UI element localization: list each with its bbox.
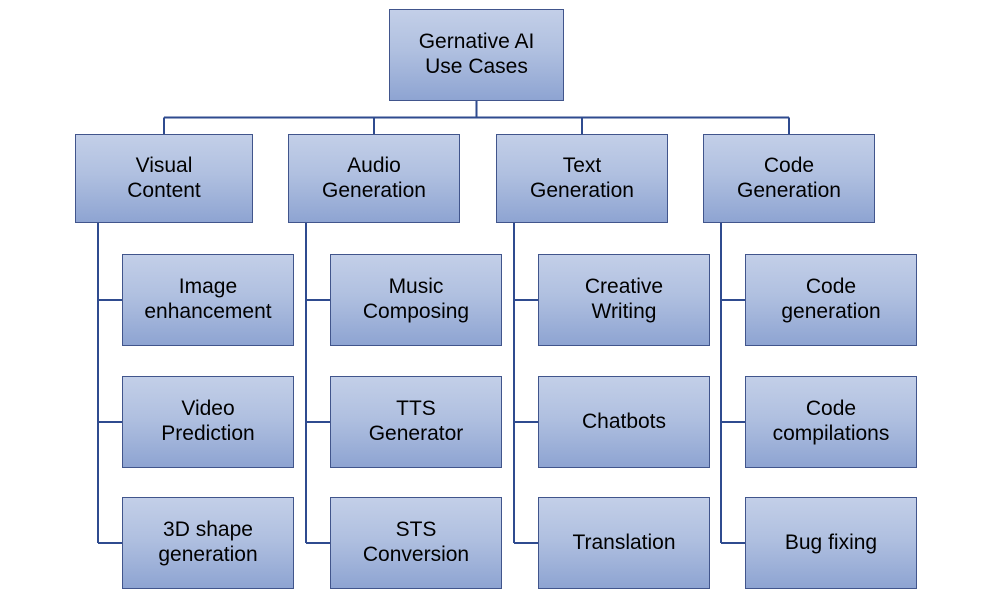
leaf-node-bug-fixing[interactable]: Bug fixing	[745, 497, 917, 589]
leaf-node-sts-conversion[interactable]: STS Conversion	[330, 497, 502, 589]
leaf-node-label: Code generation	[781, 275, 880, 325]
branch-node-audio-generation[interactable]: Audio Generation	[288, 134, 460, 223]
leaf-node-label: Image enhancement	[144, 275, 271, 325]
branch-node-label: Audio Generation	[322, 154, 426, 204]
branch-node-visual-content[interactable]: Visual Content	[75, 134, 253, 223]
leaf-node-chatbots[interactable]: Chatbots	[538, 376, 710, 468]
root-node[interactable]: Gernative AI Use Cases	[389, 9, 564, 101]
leaf-node-label: 3D shape generation	[158, 518, 257, 568]
branch-node-label: Code Generation	[737, 154, 841, 204]
leaf-node-label: Translation	[572, 531, 675, 556]
leaf-node-music-composing[interactable]: Music Composing	[330, 254, 502, 346]
org-chart-diagram: Gernative AI Use Cases Visual Content Im…	[0, 0, 996, 607]
branch-node-label: Text Generation	[530, 154, 634, 204]
leaf-node-label: Bug fixing	[785, 531, 877, 556]
leaf-node-code-generation[interactable]: Code generation	[745, 254, 917, 346]
leaf-node-label: TTS Generator	[369, 397, 464, 447]
leaf-node-label: Creative Writing	[585, 275, 663, 325]
leaf-node-creative-writing[interactable]: Creative Writing	[538, 254, 710, 346]
leaf-node-image-enhancement[interactable]: Image enhancement	[122, 254, 294, 346]
leaf-node-3d-shape-generation[interactable]: 3D shape generation	[122, 497, 294, 589]
leaf-node-translation[interactable]: Translation	[538, 497, 710, 589]
branch-node-code-generation[interactable]: Code Generation	[703, 134, 875, 223]
leaf-node-label: Chatbots	[582, 410, 666, 435]
leaf-node-label: Code compilations	[773, 397, 890, 447]
root-node-label: Gernative AI Use Cases	[419, 30, 535, 80]
leaf-node-tts-generator[interactable]: TTS Generator	[330, 376, 502, 468]
leaf-node-video-prediction[interactable]: Video Prediction	[122, 376, 294, 468]
leaf-node-label: Video Prediction	[161, 397, 254, 447]
leaf-node-code-compilations[interactable]: Code compilations	[745, 376, 917, 468]
leaf-node-label: Music Composing	[363, 275, 469, 325]
branch-node-text-generation[interactable]: Text Generation	[496, 134, 668, 223]
branch-node-label: Visual Content	[127, 154, 201, 204]
leaf-node-label: STS Conversion	[363, 518, 469, 568]
